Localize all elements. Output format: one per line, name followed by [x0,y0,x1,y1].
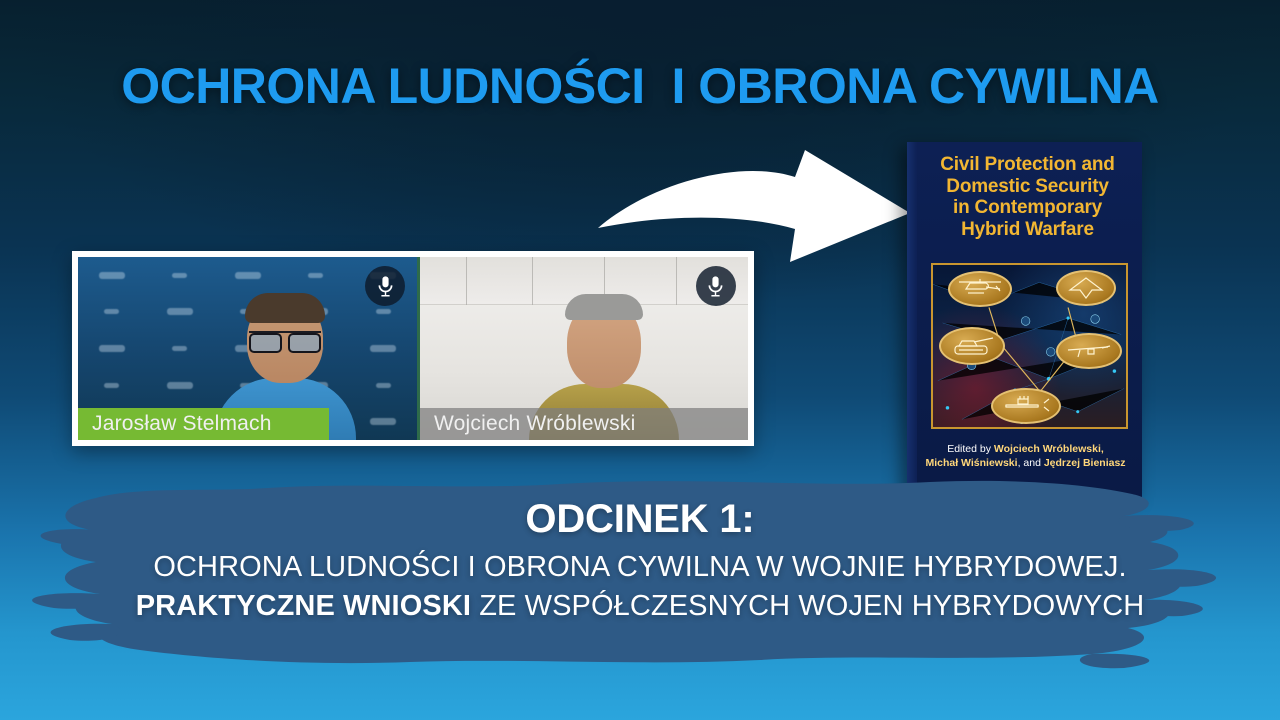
microphone-glyph [707,275,724,298]
curved-arrow-icon [590,135,920,265]
participant-1-name-banner: Jarosław Stelmach [78,408,329,440]
publisher-logo: CRC Press [907,483,1142,498]
caption-block: ODCINEK 1: OCHRONA LUDNOŚCI I OBRONA CYW… [0,497,1280,623]
crc-press-dome-icon [1010,483,1040,498]
book-title-line-1: Civil Protection and [923,154,1132,176]
caption-line-2-bold: PRAKTYCZNE WNIOSKI [136,590,471,622]
editor-name-2: Michał Wiśniewski [925,457,1017,469]
aircraft-icon [1056,270,1116,306]
submarine-icon [991,388,1061,424]
video-grid: Jarosław Stelmach [78,257,748,440]
episode-heading: ODCINEK 1: [0,497,1280,542]
participant-2-name: Wojciech Wróblewski [434,412,635,436]
microphone-icon[interactable] [365,266,405,306]
caption-line-1: OCHRONA LUDNOŚCI I OBRONA CYWILNA W WOJN… [0,551,1280,584]
participant-1-name: Jarosław Stelmach [92,412,272,436]
book-cover-artwork [931,263,1128,429]
caption-line-2: PRAKTYCZNE WNIOSKI ZE WSPÓŁCZESNYCH WOJE… [0,590,1280,623]
editor-name-1: Wojciech Wróblewski, [994,443,1104,455]
book-title-line-2: Domestic Security [923,176,1132,198]
tank-icon [939,327,1005,365]
video-call-panel: Jarosław Stelmach [72,251,754,446]
book-title: Civil Protection and Domestic Security i… [923,154,1132,241]
book-spine [907,142,917,498]
book-cover[interactable]: Civil Protection and Domestic Security i… [907,142,1142,498]
book-title-line-3: in Contemporary [923,197,1132,219]
microphone-icon[interactable] [696,266,736,306]
microphone-glyph [377,275,394,298]
editors-separator: , and [1018,457,1044,469]
editor-name-3: Jędrzej Bieniasz [1044,457,1126,469]
caption-line-2-rest: ZE WSPÓŁCZESNYCH WOJEN HYBRYDOWYCH [471,590,1144,622]
slide-canvas: OCHRONA LUDNOŚCI I OBRONA CYWILNA [0,0,1280,720]
rifle-icon [1056,333,1122,369]
video-tile-participant-1[interactable]: Jarosław Stelmach [78,257,417,440]
video-tile-participant-2[interactable]: Wojciech Wróblewski [417,257,748,440]
participant-2-name-banner: Wojciech Wróblewski [420,408,748,440]
book-editors: Edited by Wojciech Wróblewski, Michał Wi… [919,442,1132,470]
editors-prefix: Edited by [947,443,994,455]
book-title-line-4: Hybrid Warfare [923,219,1132,241]
page-title: OCHRONA LUDNOŚCI I OBRONA CYWILNA [0,57,1280,115]
